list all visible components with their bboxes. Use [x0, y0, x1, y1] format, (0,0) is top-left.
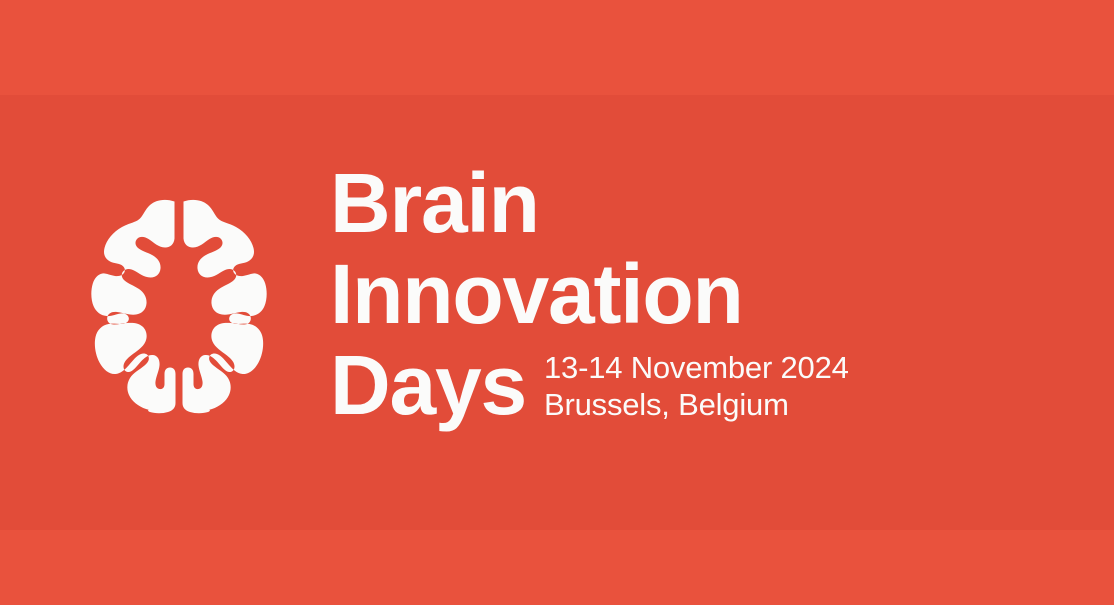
event-details: 13-14 November 2024 Brussels, Belgium — [544, 349, 904, 423]
brain-icon — [88, 198, 270, 418]
banner-content: Brain Innovation Days 13-14 November 202… — [0, 0, 1114, 605]
wordmark-line-brain: Brain — [330, 158, 750, 249]
event-dates: 13-14 November 2024 — [544, 349, 904, 386]
event-banner: Brain Innovation Days 13-14 November 202… — [0, 0, 1114, 605]
event-location: Brussels, Belgium — [544, 386, 904, 423]
wordmark-line-innovation: Innovation — [330, 249, 750, 340]
